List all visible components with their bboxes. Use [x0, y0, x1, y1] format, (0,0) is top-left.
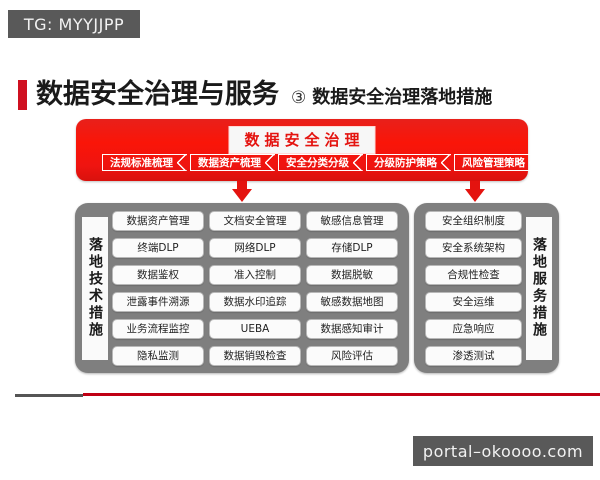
measure-cell[interactable]: 文档安全管理	[209, 211, 301, 231]
panel-technical-measures: 落地技术措施 数据资产管理 终端DLP 数据鉴权 泄露事件溯源 业务流程监控 隐…	[75, 203, 409, 373]
measure-cell[interactable]: 数据脱敏	[306, 265, 398, 285]
banner-step[interactable]: 法规标准梳理	[102, 154, 186, 171]
footer-divider-gray	[15, 394, 83, 397]
banner-title: 数据安全治理	[228, 126, 375, 154]
banner-step[interactable]: 分级防护策略	[366, 154, 450, 171]
panel-label-technical: 落地技术措施	[82, 217, 108, 360]
measure-cell[interactable]: 准入控制	[209, 265, 301, 285]
measure-cell[interactable]: 数据销毁检查	[209, 346, 301, 366]
measure-cell[interactable]: 安全组织制度	[425, 211, 522, 231]
page-title: 数据安全治理与服务 ③ 数据安全治理落地措施	[18, 76, 492, 110]
portal-watermark-badge: portal–okoooo.com	[413, 436, 593, 466]
measure-cell[interactable]: 数据感知审计	[306, 319, 398, 339]
measure-cell[interactable]: 合规性检查	[425, 265, 522, 285]
measure-cell[interactable]: 存储DLP	[306, 238, 398, 258]
measure-cell[interactable]: 安全运维	[425, 292, 522, 312]
title-subsection: ③ 数据安全治理落地措施	[291, 86, 492, 110]
footer-divider-red	[83, 393, 600, 396]
measure-cell[interactable]: 业务流程监控	[112, 319, 204, 339]
connector-arrow-right	[465, 189, 485, 202]
measure-cell[interactable]: 安全系统架构	[425, 238, 522, 258]
title-main-text: 数据安全治理与服务	[36, 80, 279, 110]
telegram-watermark-badge: TG: MYYJJPP	[8, 10, 140, 38]
panel-label-service: 落地服务措施	[526, 217, 552, 360]
banner-step[interactable]: 安全分类分级	[278, 154, 362, 171]
technical-columns: 数据资产管理 终端DLP 数据鉴权 泄露事件溯源 业务流程监控 隐私监测 文档安…	[108, 211, 402, 365]
banner-step[interactable]: 数据资产梳理	[190, 154, 274, 171]
measure-cell[interactable]: 敏感信息管理	[306, 211, 398, 231]
panel-service-measures: 安全组织制度 安全系统架构 合规性检查 安全运维 应急响应 渗透测试 落地服务措…	[414, 203, 559, 373]
connector-arrow-left	[232, 189, 252, 202]
technical-column-2: 文档安全管理 网络DLP 准入控制 数据水印追踪 UEBA 数据销毁检查	[209, 211, 301, 366]
measure-cell[interactable]: 隐私监测	[112, 346, 204, 366]
title-accent-bar	[18, 80, 27, 110]
measure-cell[interactable]: 风险评估	[306, 346, 398, 366]
technical-column-1: 数据资产管理 终端DLP 数据鉴权 泄露事件溯源 业务流程监控 隐私监测	[112, 211, 204, 366]
title-sub-text: 数据安全治理落地措施	[312, 86, 492, 110]
banner-step-list: 法规标准梳理 数据资产梳理 安全分类分级 分级防护策略 风险管理策略	[102, 154, 538, 171]
measure-cell[interactable]: 数据水印追踪	[209, 292, 301, 312]
measure-cell[interactable]: 终端DLP	[112, 238, 204, 258]
measure-cell[interactable]: 数据鉴权	[112, 265, 204, 285]
measure-cell[interactable]: 泄露事件溯源	[112, 292, 204, 312]
measure-cell[interactable]: 应急响应	[425, 319, 522, 339]
measure-cell[interactable]: UEBA	[209, 319, 301, 339]
governance-banner: 数据安全治理 法规标准梳理 数据资产梳理 安全分类分级 分级防护策略 风险管理策…	[76, 119, 528, 181]
service-columns: 安全组织制度 安全系统架构 合规性检查 安全运维 应急响应 渗透测试	[421, 211, 526, 365]
measure-cell[interactable]: 敏感数据地图	[306, 292, 398, 312]
measure-cell[interactable]: 网络DLP	[209, 238, 301, 258]
section-number-icon: ③	[291, 90, 306, 107]
measure-cell[interactable]: 数据资产管理	[112, 211, 204, 231]
technical-column-3: 敏感信息管理 存储DLP 数据脱敏 敏感数据地图 数据感知审计 风险评估	[306, 211, 398, 366]
banner-step[interactable]: 风险管理策略	[454, 154, 538, 171]
service-column-1: 安全组织制度 安全系统架构 合规性检查 安全运维 应急响应 渗透测试	[425, 211, 522, 366]
measure-cell[interactable]: 渗透测试	[425, 346, 522, 366]
